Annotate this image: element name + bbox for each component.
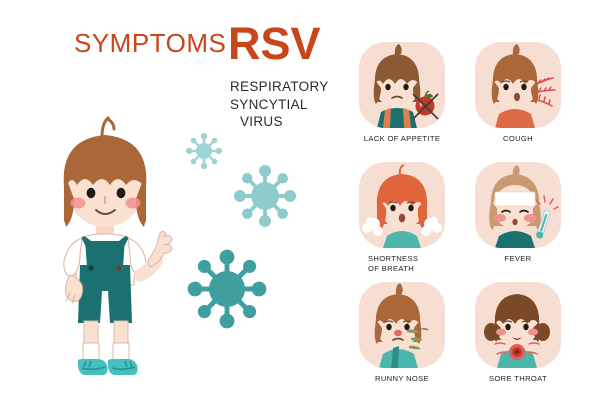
page-title-symptoms: SYMPTOMS [74, 28, 226, 59]
symptom-illustration-shortness-of-breath [359, 162, 445, 248]
symptom-label-fever: FEVER [475, 254, 561, 264]
symptom-card-cough[interactable]: COUGH [475, 42, 561, 144]
expansion-line-2: SYNCYTIAL [230, 96, 329, 114]
symptom-illustration-sore-throat [475, 282, 561, 368]
symptom-card-shortness-of-breath[interactable]: SHORTNESS OF BREATH [359, 162, 445, 274]
virus-particle-medium-icon [232, 163, 298, 234]
page-title-acronym: RSV [228, 22, 321, 66]
symptom-illustration-lack-of-appetite [359, 42, 445, 128]
symptom-card-sore-throat[interactable]: SORE THROAT [475, 282, 561, 384]
virus-particle-large-icon [186, 248, 268, 335]
symptom-illustration-runny-nose [359, 282, 445, 368]
symptom-card-fever[interactable]: FEVER [475, 162, 561, 264]
expansion-line-1: RESPIRATORY [230, 78, 329, 96]
symptom-label-sore-throat: SORE THROAT [475, 374, 561, 384]
symptom-illustration-cough [475, 42, 561, 128]
symptom-label-cough: COUGH [475, 134, 561, 144]
symptom-illustration-fever [475, 162, 561, 248]
main-child-character [30, 115, 190, 385]
symptom-card-runny-nose[interactable]: RUNNY NOSE [359, 282, 445, 384]
symptom-label-runny-nose: RUNNY NOSE [359, 374, 445, 384]
symptom-card-lack-of-appetite[interactable]: LACK OF APPETITE [359, 42, 445, 144]
acronym-expansion: RESPIRATORY SYNCYTIAL VIRUS [230, 78, 329, 131]
symptom-label-shortness-of-breath: SHORTNESS OF BREATH [359, 254, 445, 274]
expansion-line-3: VIRUS [230, 113, 329, 131]
symptom-label-lack-of-appetite: LACK OF APPETITE [359, 134, 445, 144]
rsv-symptoms-infographic: SYMPTOMS RSV RESPIRATORY SYNCYTIAL VIRUS [0, 0, 612, 418]
virus-particle-small-icon [184, 131, 224, 176]
